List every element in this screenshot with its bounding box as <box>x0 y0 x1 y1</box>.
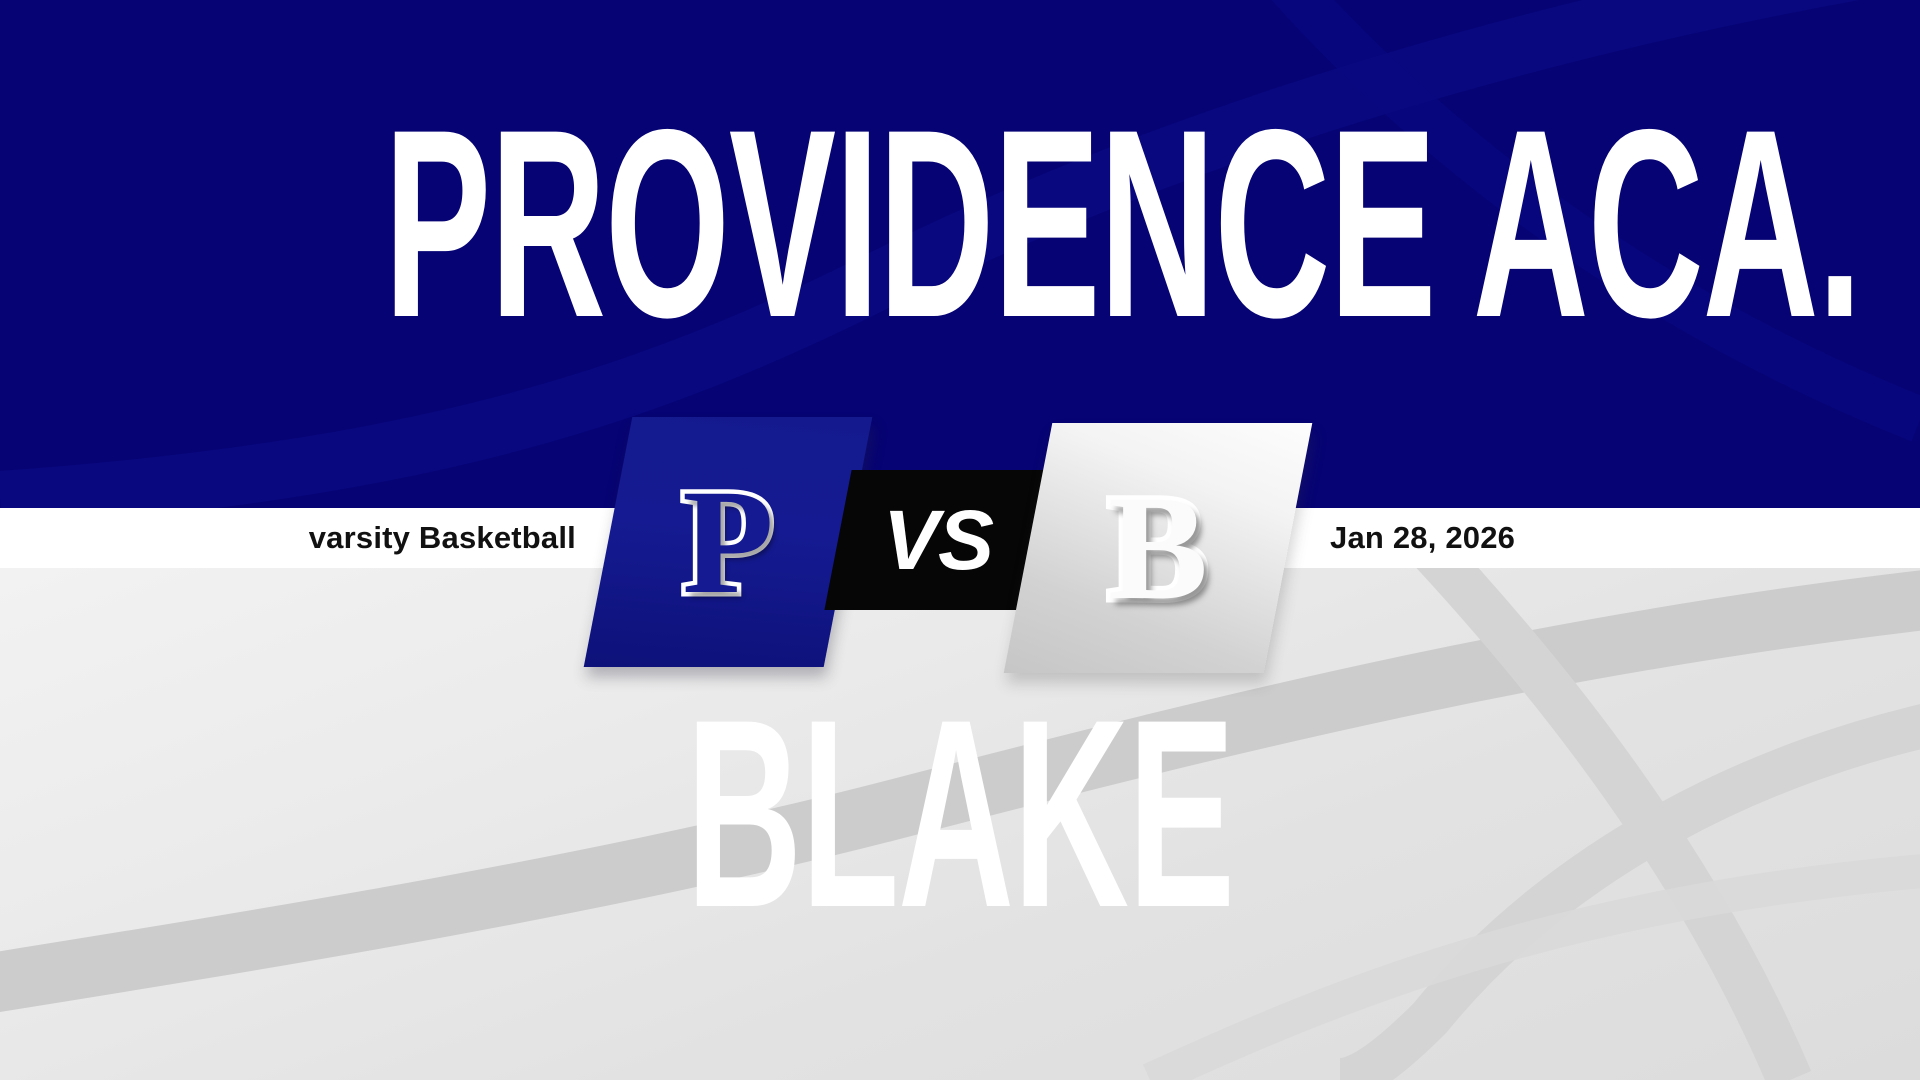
versus-label: VS <box>883 498 993 582</box>
home-team-title: PROVIDENCE ACA. <box>384 100 1536 347</box>
away-badge-inner: B <box>1028 423 1288 673</box>
sport-label: varsity Basketball <box>309 520 576 556</box>
home-team-badge[interactable]: P <box>584 417 873 667</box>
sport-label-container: varsity Basketball <box>0 508 600 568</box>
home-badge-inner: P <box>608 417 848 667</box>
versus-badge-inner: VS <box>838 470 1038 610</box>
date-label-container: Jan 28, 2026 <box>1330 508 1890 568</box>
home-team-logo-letter: P <box>682 467 774 617</box>
away-team-logo-letter: B <box>1108 473 1208 623</box>
away-team-badge[interactable]: B <box>1004 423 1313 673</box>
away-team-title: BLAKE <box>384 690 1536 937</box>
versus-badge: VS <box>824 470 1051 610</box>
matchup-graphic: PROVIDENCE ACA. BLAKE varsity Basketball… <box>0 0 1920 1080</box>
game-date: Jan 28, 2026 <box>1330 520 1515 556</box>
